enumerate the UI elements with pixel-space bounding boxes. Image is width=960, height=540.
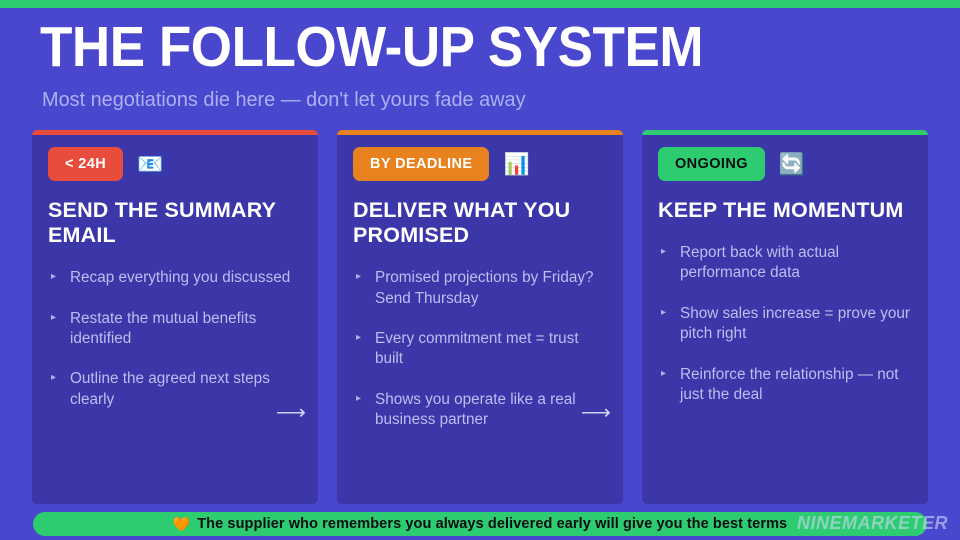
list-item-text: Recap everything you discussed xyxy=(70,269,290,286)
repeat-emoji-icon: 🔄 xyxy=(779,154,805,175)
list-item-text: Promised projections by Friday? Send Thu… xyxy=(375,269,594,306)
flow-arrow-icon: ⟶ xyxy=(276,402,304,423)
card-keep-the-momentum[interactable]: ONGOING 🔄 KEEP THE MOMENTUM ▸ Report bac… xyxy=(642,130,928,504)
status-badge: < 24H xyxy=(48,147,123,181)
list-item: ▸ Outline the agreed next steps clearly xyxy=(48,369,302,410)
slide-canvas: THE FOLLOW-UP SYSTEM Most negotiations d… xyxy=(0,0,960,540)
bullet-marker-icon: ▸ xyxy=(51,268,56,287)
orange-heart-emoji-icon: 🧡 xyxy=(173,517,190,531)
card-header: ONGOING 🔄 xyxy=(658,147,912,181)
bullet-marker-icon: ▸ xyxy=(51,309,56,328)
page-title: THE FOLLOW-UP SYSTEM xyxy=(40,18,858,78)
bullet-marker-icon: ▸ xyxy=(661,365,666,384)
slide-header: THE FOLLOW-UP SYSTEM Most negotiations d… xyxy=(40,18,920,112)
bullet-marker-icon: ▸ xyxy=(661,304,666,323)
bar-chart-emoji-icon: 📊 xyxy=(503,154,529,175)
list-item: ▸ Every commitment met = trust built xyxy=(353,329,607,370)
card-accent-bar xyxy=(32,130,318,135)
card-accent-bar xyxy=(337,130,623,135)
bullet-marker-icon: ▸ xyxy=(356,329,361,348)
card-title: KEEP THE MOMENTUM xyxy=(658,198,912,223)
list-item: ▸ Report back with actual performance da… xyxy=(658,243,912,284)
bullet-marker-icon: ▸ xyxy=(356,390,361,409)
list-item-text: Restate the mutual benefits identified xyxy=(70,310,256,347)
card-bullet-list: ▸ Promised projections by Friday? Send T… xyxy=(353,268,607,430)
footer-callout-text: The supplier who remembers you always de… xyxy=(197,516,787,532)
list-item-text: Show sales increase = prove your pitch r… xyxy=(680,305,910,342)
card-send-the-summary-email[interactable]: < 24H 📧 SEND THE SUMMARY EMAIL ▸ Recap e… xyxy=(32,130,318,504)
list-item-text: Every commitment met = trust built xyxy=(375,330,579,367)
card-header: BY DEADLINE 📊 xyxy=(353,147,607,181)
card-bullet-list: ▸ Recap everything you discussed ▸ Resta… xyxy=(48,268,302,410)
list-item-text: Report back with actual performance data xyxy=(680,244,839,281)
card-title: SEND THE SUMMARY EMAIL xyxy=(48,198,302,248)
bullet-marker-icon: ▸ xyxy=(356,268,361,287)
footer-callout-bar: 🧡 The supplier who remembers you always … xyxy=(33,512,927,536)
flow-arrow-icon: ⟶ xyxy=(581,402,609,423)
bullet-marker-icon: ▸ xyxy=(661,243,666,262)
bullet-marker-icon: ▸ xyxy=(51,369,56,388)
card-header: < 24H 📧 xyxy=(48,147,302,181)
list-item-text: Reinforce the relationship — not just th… xyxy=(680,366,899,403)
list-item-text: Outline the agreed next steps clearly xyxy=(70,370,270,407)
page-subtitle: Most negotiations die here — don't let y… xyxy=(42,88,894,113)
status-badge: BY DEADLINE xyxy=(353,147,489,181)
card-deliver-what-you-promised[interactable]: BY DEADLINE 📊 DELIVER WHAT YOU PROMISED … xyxy=(337,130,623,504)
list-item: ▸ Reinforce the relationship — not just … xyxy=(658,365,912,406)
list-item: ▸ Promised projections by Friday? Send T… xyxy=(353,268,607,309)
list-item: ▸ Shows you operate like a real business… xyxy=(353,390,607,431)
list-item: ▸ Recap everything you discussed xyxy=(48,268,302,288)
top-accent-strip xyxy=(0,0,960,8)
card-accent-bar xyxy=(642,130,928,135)
list-item: ▸ Restate the mutual benefits identified xyxy=(48,309,302,350)
list-item: ▸ Show sales increase = prove your pitch… xyxy=(658,304,912,345)
status-badge: ONGOING xyxy=(658,147,765,181)
cards-row: < 24H 📧 SEND THE SUMMARY EMAIL ▸ Recap e… xyxy=(32,130,928,504)
card-title: DELIVER WHAT YOU PROMISED xyxy=(353,198,607,248)
email-emoji-icon: 📧 xyxy=(137,154,163,175)
card-bullet-list: ▸ Report back with actual performance da… xyxy=(658,243,912,405)
list-item-text: Shows you operate like a real business p… xyxy=(375,391,576,428)
